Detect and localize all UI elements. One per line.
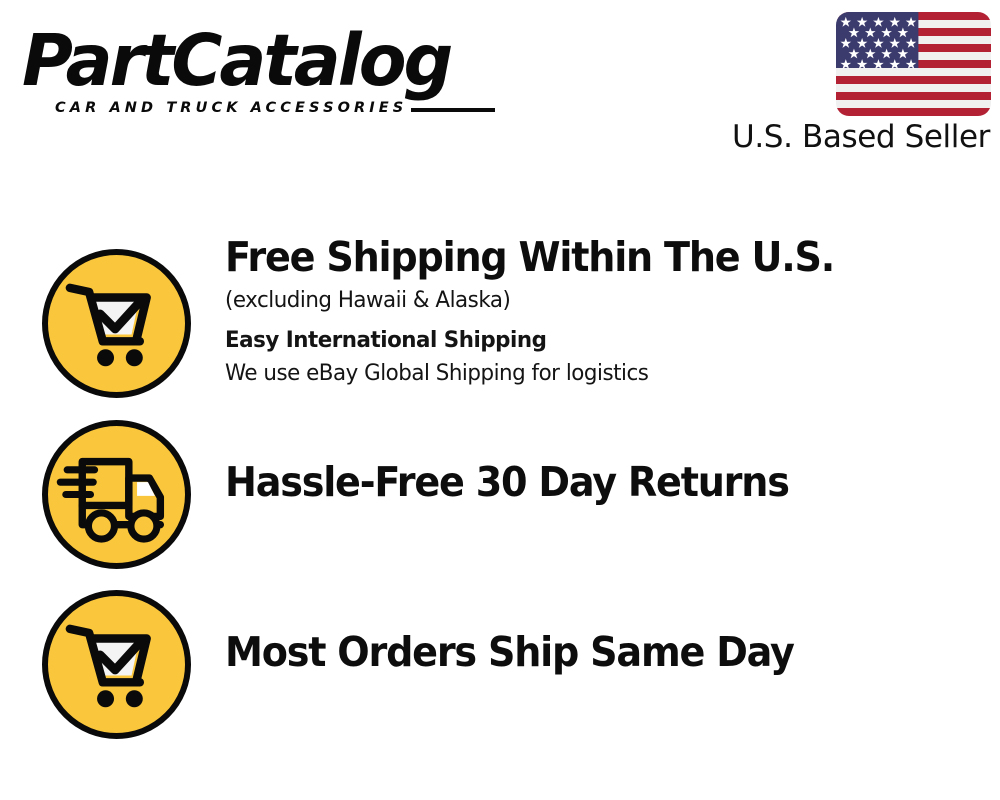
brand-wordmark: PartCatalog — [22, 22, 450, 100]
feature-row: Hassle-Free 30 Day Returns — [0, 417, 1000, 567]
brand-tagline-row: CAR AND TRUCK ACCESSORIES — [55, 98, 495, 118]
feature-row: Most Orders Ship Same Day — [0, 587, 1000, 737]
feature-text: Hassle-Free 30 Day Returns — [225, 417, 1000, 507]
shopping-cart-check-icon — [42, 590, 191, 739]
feature-heading: Free Shipping Within The U.S. — [225, 232, 946, 282]
brand-tagline-rule — [411, 108, 495, 112]
feature-text: Free Shipping Within The U.S. (excluding… — [225, 232, 1000, 390]
delivery-truck-icon — [42, 420, 191, 569]
feature-subline: We use eBay Global Shipping for logistic… — [225, 357, 961, 390]
shopping-cart-check-icon — [42, 249, 191, 398]
feature-icon-wrap — [42, 232, 194, 398]
feature-icon-wrap — [42, 587, 194, 739]
feature-text: Most Orders Ship Same Day — [225, 587, 1000, 677]
feature-subline: (excluding Hawaii & Alaska) — [225, 284, 961, 317]
us-flag-icon — [836, 12, 991, 116]
brand-tagline: CAR AND TRUCK ACCESSORIES — [55, 100, 407, 116]
feature-icon-wrap — [42, 417, 194, 569]
us-based-seller-label: U.S. Based Seller — [722, 119, 990, 155]
feature-heading: Hassle-Free 30 Day Returns — [225, 457, 946, 507]
page-header: PartCatalog CAR AND TRUCK ACCESSORIES — [0, 0, 1000, 175]
feature-subline: Easy International Shipping — [225, 324, 961, 357]
feature-heading: Most Orders Ship Same Day — [225, 627, 946, 677]
feature-row: Free Shipping Within The U.S. (excluding… — [0, 232, 1000, 404]
brand-logo[interactable]: PartCatalog CAR AND TRUCK ACCESSORIES — [22, 22, 492, 117]
